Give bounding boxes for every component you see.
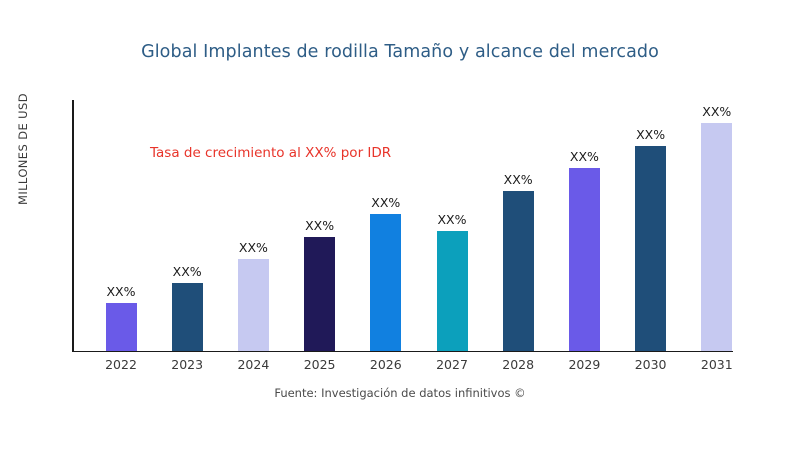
x-tick-label-2022: 2022 <box>86 357 156 372</box>
bar-value-label-2024: XX% <box>239 240 268 255</box>
bar-value-label-2030: XX% <box>636 127 665 142</box>
plot-area: XX%XX%XX%XX%XX%XX%XX%XX%XX%XX% <box>72 100 733 351</box>
bar-2023[interactable] <box>172 283 203 351</box>
bar-value-label-2031: XX% <box>702 104 731 119</box>
bar-2022[interactable] <box>106 303 137 351</box>
bar-2025[interactable] <box>304 237 335 351</box>
bar-value-label-2022: XX% <box>106 284 135 299</box>
chart-container: Global Implantes de rodilla Tamaño y alc… <box>0 0 800 450</box>
bar-value-label-2028: XX% <box>504 172 533 187</box>
x-tick-label-2027: 2027 <box>417 357 487 372</box>
bar-2031[interactable] <box>701 123 732 351</box>
bar-2029[interactable] <box>569 168 600 351</box>
source-note: Fuente: Investigación de datos infinitiv… <box>0 386 800 400</box>
bar-2028[interactable] <box>503 191 534 351</box>
x-tick-label-2030: 2030 <box>616 357 686 372</box>
x-tick-label-2029: 2029 <box>549 357 619 372</box>
x-tick-label-2028: 2028 <box>483 357 553 372</box>
bar-2027[interactable] <box>437 231 468 351</box>
x-tick-label-2023: 2023 <box>152 357 222 372</box>
bar-2030[interactable] <box>635 146 666 351</box>
bar-2024[interactable] <box>238 259 269 351</box>
growth-rate-annotation: Tasa de crecimiento al XX% por IDR <box>150 145 391 161</box>
bar-value-label-2027: XX% <box>437 212 466 227</box>
x-tick-label-2031: 2031 <box>682 357 752 372</box>
bar-value-label-2025: XX% <box>305 218 334 233</box>
y-axis-title: MILLONES DE USD <box>16 64 30 234</box>
bar-value-label-2026: XX% <box>371 195 400 210</box>
x-tick-label-2026: 2026 <box>351 357 421 372</box>
bar-value-label-2023: XX% <box>173 264 202 279</box>
x-tick-label-2025: 2025 <box>285 357 355 372</box>
bar-value-label-2029: XX% <box>570 149 599 164</box>
chart-title: Global Implantes de rodilla Tamaño y alc… <box>0 42 800 62</box>
bar-2026[interactable] <box>370 214 401 351</box>
x-tick-label-2024: 2024 <box>218 357 288 372</box>
